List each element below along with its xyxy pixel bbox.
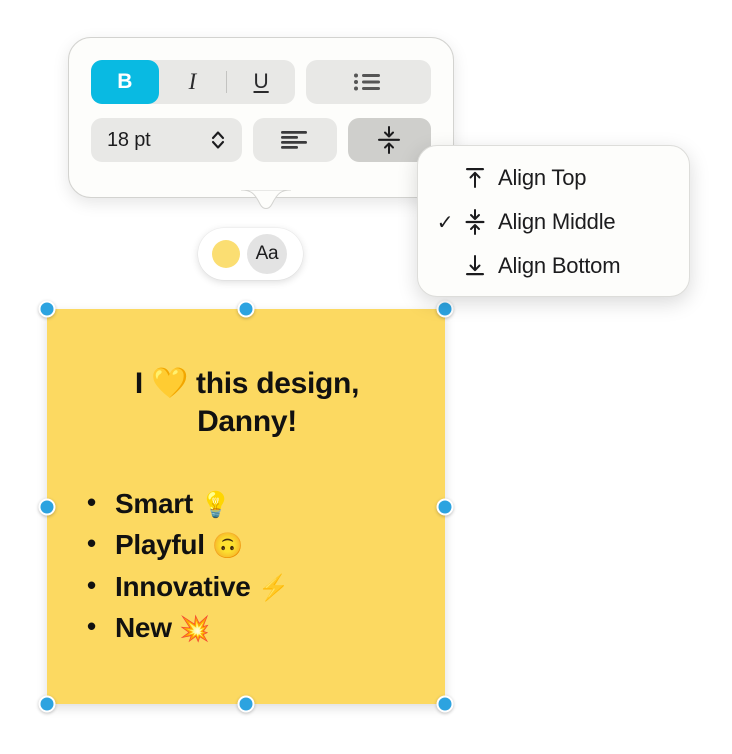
up-down-chevron-icon[interactable] xyxy=(210,128,226,152)
resize-handle-middle-left[interactable] xyxy=(39,499,56,516)
lightbulb-emoji: 💡 xyxy=(200,491,231,519)
note-heading: I 💛 this design, Danny! xyxy=(69,365,425,441)
bold-label: B xyxy=(117,70,132,94)
menu-item-align-bottom[interactable]: Align Bottom xyxy=(418,244,689,288)
checkmark-icon: ✓ xyxy=(432,210,458,235)
collision-emoji: 💥 xyxy=(179,615,210,643)
list-item-text: Smart xyxy=(115,488,193,519)
text-format-toolbar[interactable]: B I U 18 pt xyxy=(68,37,454,198)
toolbar-pointer-tail xyxy=(240,190,292,226)
resize-handle-bottom-right[interactable] xyxy=(437,696,454,713)
italic-button[interactable]: I xyxy=(159,60,227,104)
align-bottom-icon xyxy=(458,254,492,278)
list-item-text: New xyxy=(115,612,172,643)
menu-item-label: Align Bottom xyxy=(498,253,620,279)
bulleted-list-icon xyxy=(353,72,383,92)
yellow-color-swatch[interactable] xyxy=(212,240,240,268)
sticky-note-canvas[interactable]: I 💛 this design, Danny! Smart 💡 Playful … xyxy=(47,309,445,704)
lightning-emoji: ⚡ xyxy=(258,574,289,602)
list-item: Playful 🙃 xyxy=(87,524,425,565)
vertical-align-dropdown-menu[interactable]: Align Top ✓ Align Middle Align Bottom xyxy=(417,145,690,297)
toolbar-row-layout: 18 pt xyxy=(69,118,453,162)
sticky-note[interactable]: I 💛 this design, Danny! Smart 💡 Playful … xyxy=(47,309,445,704)
bold-button[interactable]: B xyxy=(91,60,159,104)
font-size-stepper[interactable]: 18 pt xyxy=(91,118,242,162)
menu-item-label: Align Top xyxy=(498,165,586,191)
text-format-button[interactable]: Aa xyxy=(247,234,287,274)
align-middle-icon xyxy=(458,209,492,235)
menu-item-align-middle[interactable]: ✓ Align Middle xyxy=(418,200,689,244)
toolbar-row-style: B I U xyxy=(69,60,453,104)
bulleted-list-button[interactable] xyxy=(306,60,431,104)
resize-handle-bottom-center[interactable] xyxy=(238,696,255,713)
align-left-icon xyxy=(281,131,309,149)
note-bullet-list: Smart 💡 Playful 🙃 Innovative ⚡ New 💥 xyxy=(69,483,425,648)
font-size-value: 18 pt xyxy=(107,129,150,152)
list-item: New 💥 xyxy=(87,607,425,648)
style-button-group[interactable]: B I U xyxy=(91,60,295,104)
align-top-icon xyxy=(458,166,492,190)
resize-handle-bottom-left[interactable] xyxy=(39,696,56,713)
italic-label: I xyxy=(189,69,197,95)
underline-button[interactable]: U xyxy=(227,60,295,104)
list-item: Innovative ⚡ xyxy=(87,566,425,607)
resize-handle-top-center[interactable] xyxy=(238,301,255,318)
align-middle-icon xyxy=(376,126,402,154)
underline-label: U xyxy=(254,70,269,94)
text-align-button[interactable] xyxy=(253,118,336,162)
list-item-text: Playful xyxy=(115,529,205,560)
upside-down-face-emoji: 🙃 xyxy=(212,532,243,560)
sticky-note-content[interactable]: I 💛 this design, Danny! Smart 💡 Playful … xyxy=(69,309,425,704)
list-item: Smart 💡 xyxy=(87,483,425,524)
menu-item-label: Align Middle xyxy=(498,209,615,235)
format-pill-toolbar[interactable]: Aa xyxy=(198,228,303,280)
resize-handle-top-left[interactable] xyxy=(39,301,56,318)
resize-handle-middle-right[interactable] xyxy=(437,499,454,516)
menu-item-align-top[interactable]: Align Top xyxy=(418,156,689,200)
resize-handle-top-right[interactable] xyxy=(437,301,454,318)
list-item-text: Innovative xyxy=(115,571,250,602)
